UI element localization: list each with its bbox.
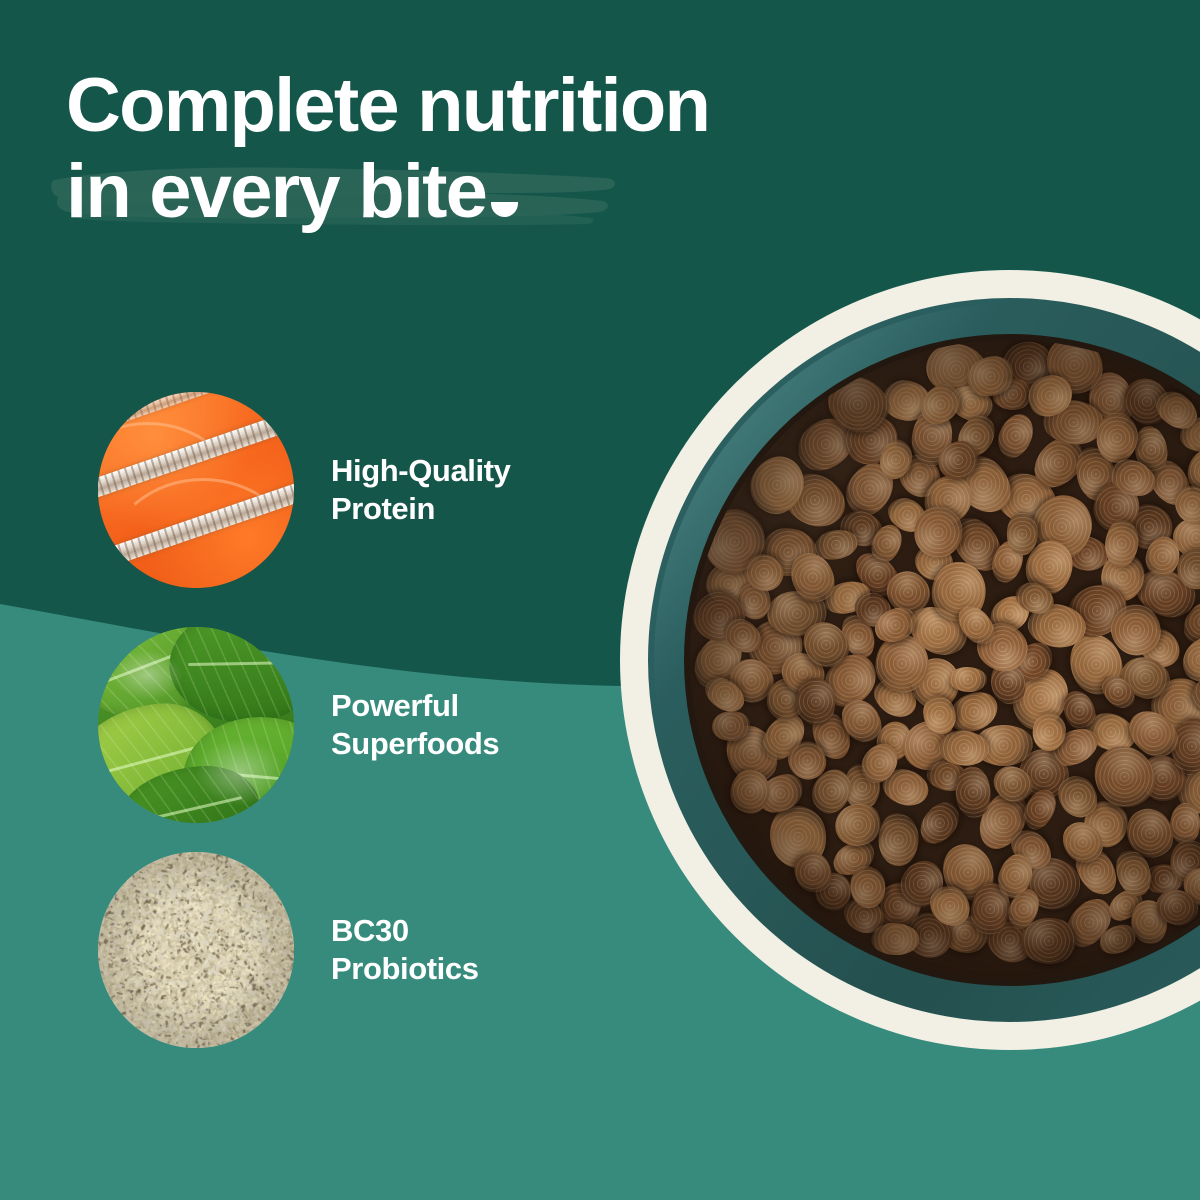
headline-period xyxy=(491,202,518,217)
page-title: Complete nutrition in every bite xyxy=(66,62,886,236)
feature-label-protein: High-Quality Protein xyxy=(331,452,510,528)
feature-item-probiotics[interactable]: BC30 Probiotics xyxy=(98,852,479,1048)
probiotic-granules-icon xyxy=(98,852,294,1048)
feature-item-protein[interactable]: High-Quality Protein xyxy=(98,392,510,588)
salmon-fillet-icon xyxy=(98,392,294,588)
headline-text-1: Complete nutrition xyxy=(66,63,709,148)
headline-line-1: Complete nutrition xyxy=(66,62,886,150)
feature-label-probiotics: BC30 Probiotics xyxy=(331,912,479,988)
headline-line-2: in every bite xyxy=(66,148,886,236)
headline-text-2: in every bite xyxy=(66,149,486,234)
banner-stage: Complete nutrition in every bite H xyxy=(0,0,1200,1200)
feature-label-superfoods: Powerful Superfoods xyxy=(331,687,499,763)
spinach-leaves-icon xyxy=(98,627,294,823)
feature-item-superfoods[interactable]: Powerful Superfoods xyxy=(98,627,499,823)
